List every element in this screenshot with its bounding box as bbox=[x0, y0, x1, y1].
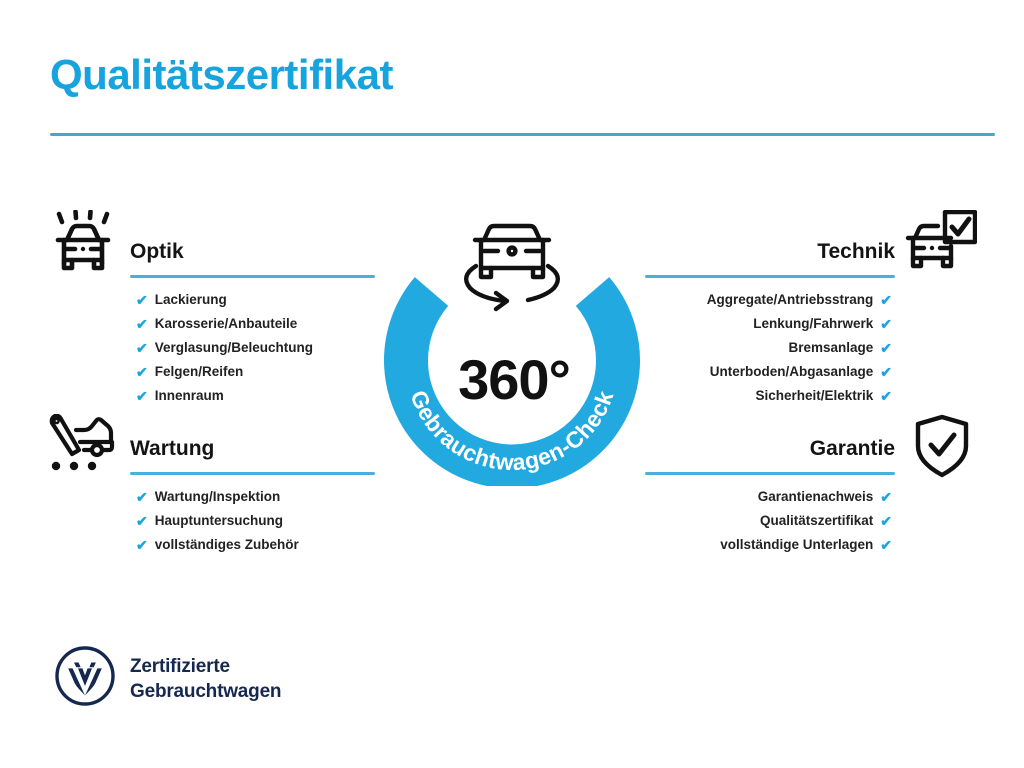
section-header-garantie: Garantie bbox=[645, 435, 895, 475]
gebrauchtwagen-check-badge: Gebrauchtwagen-Check 360° bbox=[378, 196, 646, 486]
vw-certified-used-cars-logo: Zertifizierte Gebrauchtwagen bbox=[54, 645, 281, 712]
section-technik: Technik✔Aggregate/Antriebsstrang✔Lenkung… bbox=[645, 238, 895, 408]
check-icon: ✔ bbox=[880, 317, 892, 331]
section-title-garantie: Garantie bbox=[645, 435, 895, 463]
footer-logo-line-1: Zertifizierte bbox=[130, 654, 281, 679]
title-divider bbox=[50, 133, 995, 136]
checklist-item-label: Unterboden/Abgasanlage bbox=[710, 360, 874, 384]
checklist-item-label: Lenkung/Fahrwerk bbox=[753, 312, 873, 336]
check-icon: ✔ bbox=[136, 341, 148, 355]
check-icon: ✔ bbox=[136, 389, 148, 403]
check-icon: ✔ bbox=[880, 365, 892, 379]
car-rotate-icon bbox=[466, 226, 558, 309]
car-checkbox-icon bbox=[905, 210, 977, 277]
certificate-page: Qualitätszertifikat bbox=[0, 0, 1024, 768]
checklist-item: ✔vollständige Unterlagen bbox=[645, 533, 892, 557]
checklist-item-label: Sicherheit/Elektrik bbox=[755, 384, 873, 408]
check-icon: ✔ bbox=[136, 293, 148, 307]
section-wartung: Wartung✔Wartung/Inspektion✔Hauptuntersuc… bbox=[130, 435, 375, 557]
checklist-item: ✔Unterboden/Abgasanlage bbox=[645, 360, 892, 384]
section-divider-wartung bbox=[130, 472, 375, 475]
section-divider-garantie bbox=[645, 472, 895, 475]
checklist-optik: ✔Lackierung✔Karosserie/Anbauteile✔Vergla… bbox=[136, 288, 375, 408]
checklist-item-label: Innenraum bbox=[155, 384, 224, 408]
checklist-item: ✔Innenraum bbox=[136, 384, 375, 408]
checklist-item-label: vollständiges Zubehör bbox=[155, 533, 299, 557]
check-icon: ✔ bbox=[136, 365, 148, 379]
checklist-item-label: Verglasung/Beleuchtung bbox=[155, 336, 313, 360]
check-icon: ✔ bbox=[136, 538, 148, 552]
checklist-item: ✔Sicherheit/Elektrik bbox=[645, 384, 892, 408]
checklist-wartung: ✔Wartung/Inspektion✔Hauptuntersuchung✔vo… bbox=[136, 485, 375, 557]
check-icon: ✔ bbox=[136, 514, 148, 528]
checklist-item-label: Karosserie/Anbauteile bbox=[155, 312, 298, 336]
section-header-optik: Optik bbox=[130, 238, 375, 278]
checklist-item-label: Bremsanlage bbox=[788, 336, 873, 360]
check-icon: ✔ bbox=[136, 317, 148, 331]
checklist-item: ✔Garantienachweis bbox=[645, 485, 892, 509]
checklist-item-label: Wartung/Inspektion bbox=[155, 485, 281, 509]
checklist-technik: ✔Aggregate/Antriebsstrang✔Lenkung/Fahrwe… bbox=[645, 288, 892, 408]
vw-roundel-logo bbox=[54, 645, 116, 712]
checklist-item: ✔Hauptuntersuchung bbox=[136, 509, 375, 533]
car-service-tool-icon bbox=[46, 414, 120, 477]
checklist-item: ✔Bremsanlage bbox=[645, 336, 892, 360]
section-divider-technik bbox=[645, 275, 895, 278]
section-header-technik: Technik bbox=[645, 238, 895, 278]
checklist-item: ✔Wartung/Inspektion bbox=[136, 485, 375, 509]
check-icon: ✔ bbox=[880, 538, 892, 552]
checklist-item: ✔Qualitätszertifikat bbox=[645, 509, 892, 533]
checklist-item-label: Felgen/Reifen bbox=[155, 360, 244, 384]
checklist-item: ✔Lenkung/Fahrwerk bbox=[645, 312, 892, 336]
page-title: Qualitätszertifikat bbox=[50, 52, 393, 98]
checklist-item: ✔Verglasung/Beleuchtung bbox=[136, 336, 375, 360]
section-title-technik: Technik bbox=[645, 238, 895, 266]
shield-check-icon bbox=[912, 414, 972, 483]
section-title-optik: Optik bbox=[130, 238, 375, 266]
check-icon: ✔ bbox=[880, 293, 892, 307]
checklist-item-label: Lackierung bbox=[155, 288, 227, 312]
checklist-garantie: ✔Garantienachweis✔Qualitätszertifikat✔vo… bbox=[645, 485, 892, 557]
checklist-item-label: Garantienachweis bbox=[758, 485, 874, 509]
section-title-wartung: Wartung bbox=[130, 435, 375, 463]
section-garantie: Garantie✔Garantienachweis✔Qualitätszerti… bbox=[645, 435, 895, 557]
check-icon: ✔ bbox=[880, 389, 892, 403]
car-headlights-icon bbox=[46, 210, 120, 279]
check-icon: ✔ bbox=[880, 341, 892, 355]
checklist-item: ✔Lackierung bbox=[136, 288, 375, 312]
footer-logo-line-2: Gebrauchtwagen bbox=[130, 679, 281, 704]
checklist-item-label: Qualitätszertifikat bbox=[760, 509, 873, 533]
checklist-item: ✔Felgen/Reifen bbox=[136, 360, 375, 384]
section-header-wartung: Wartung bbox=[130, 435, 375, 475]
checklist-item: ✔Karosserie/Anbauteile bbox=[136, 312, 375, 336]
checklist-item-label: vollständige Unterlagen bbox=[720, 533, 873, 557]
checklist-item-label: Aggregate/Antriebsstrang bbox=[707, 288, 874, 312]
checklist-item: ✔vollständiges Zubehör bbox=[136, 533, 375, 557]
check-icon: ✔ bbox=[880, 514, 892, 528]
checklist-item: ✔Aggregate/Antriebsstrang bbox=[645, 288, 892, 312]
footer-logo-text: Zertifizierte Gebrauchtwagen bbox=[130, 654, 281, 704]
section-divider-optik bbox=[130, 275, 375, 278]
check-icon: ✔ bbox=[136, 490, 148, 504]
section-optik: Optik✔Lackierung✔Karosserie/Anbauteile✔V… bbox=[130, 238, 375, 408]
checklist-item-label: Hauptuntersuchung bbox=[155, 509, 283, 533]
check-icon: ✔ bbox=[880, 490, 892, 504]
